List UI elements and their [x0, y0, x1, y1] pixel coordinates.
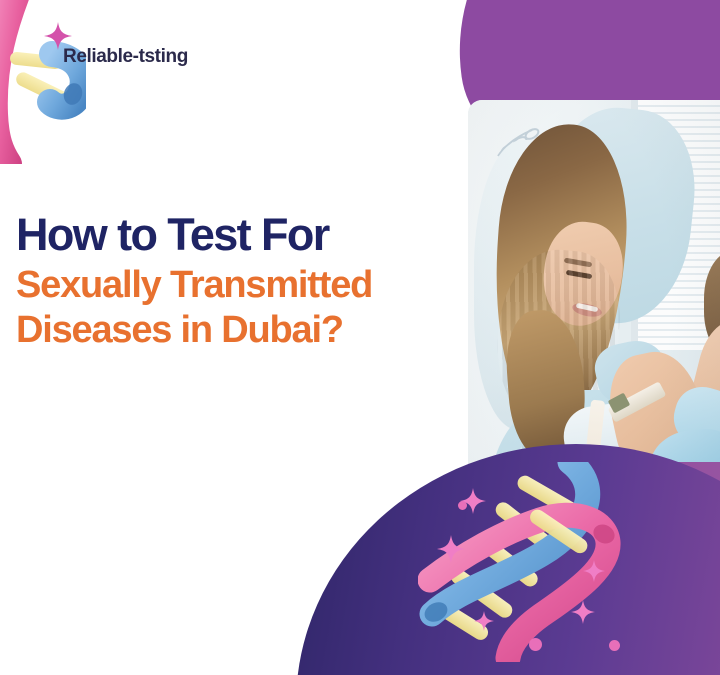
sparkle-star-icon-6 — [474, 611, 494, 631]
decor-purple-blob-top-extension — [560, 0, 720, 110]
headline-line-1: How to Test For — [16, 206, 476, 263]
sparkle-star-icon-2 — [437, 535, 465, 563]
sparkle-star-icon-4 — [571, 600, 595, 624]
decor-dot-2 — [529, 638, 542, 651]
brand-logo-text[interactable]: Reliable-tsting — [63, 46, 188, 68]
dna-helix-icon-top-left — [0, 0, 86, 164]
banner-canvas: Reliable-tsting How to Test For Sexually… — [0, 0, 720, 675]
decor-dot-3 — [609, 640, 620, 651]
headline-line-3: Diseases in Dubai? — [16, 308, 476, 353]
page-title: How to Test For Sexually Transmitted Dis… — [16, 206, 476, 353]
headline-line-2: Sexually Transmitted — [16, 263, 476, 308]
sparkle-star-icon-3 — [583, 560, 605, 582]
decor-dot-1 — [458, 501, 467, 510]
